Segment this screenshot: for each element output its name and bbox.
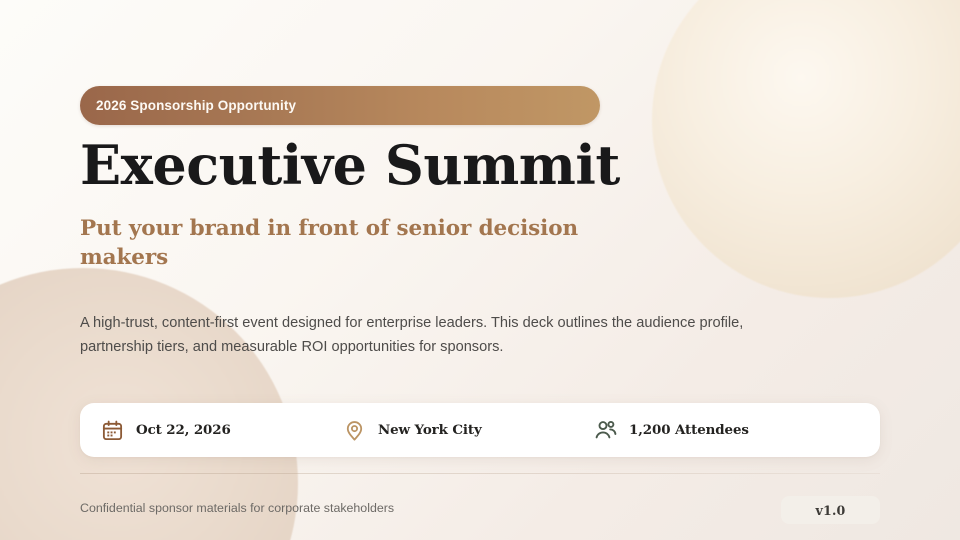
fact-label-date: Oct 22, 2026 [136, 422, 231, 438]
page-title: Executive Summit [80, 137, 620, 194]
intro-paragraph: A high-trust, content-first event design… [80, 311, 752, 359]
slide-canvas: 2026 Sponsorship Opportunity Executive S… [0, 0, 960, 540]
sponsorship-badge: 2026 Sponsorship Opportunity [80, 86, 600, 125]
confidentiality-note: Confidential sponsor materials for corpo… [80, 501, 394, 515]
map-pin-icon [342, 418, 367, 443]
version-badge-label: v1.0 [815, 503, 845, 518]
version-badge: v1.0 [781, 496, 880, 524]
fact-label-attendees: 1,200 Attendees [629, 422, 749, 438]
fact-item-attendees: 1,200 Attendees [580, 418, 830, 443]
calendar-icon [100, 418, 125, 443]
fact-item-location: New York City [330, 418, 580, 443]
decorative-circle-top-right [652, 0, 960, 298]
page-subtitle: Put your brand in front of senior decisi… [80, 214, 580, 272]
fact-item-date: Oct 22, 2026 [80, 418, 330, 443]
footer-divider [80, 473, 880, 474]
fact-label-location: New York City [378, 422, 482, 438]
people-icon [593, 418, 618, 443]
fact-bar: Oct 22, 2026 New York City 1,200 Att [80, 403, 880, 457]
sponsorship-badge-label: 2026 Sponsorship Opportunity [96, 98, 296, 113]
